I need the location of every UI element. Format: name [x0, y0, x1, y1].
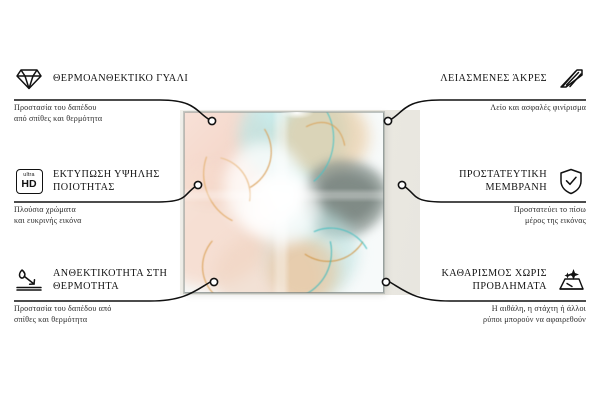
- feature-easy-cleaning: ΚΑΘΑΡΙΣΜΟΣ ΧΩΡΙΣ ΠΡΟΒΛΗΜΑΤΑ Η αιθάλη, η …: [408, 265, 586, 326]
- connector-dot: [382, 278, 389, 285]
- feature-description: Πλούσια χρώματακαι ευκρινής εικόνα: [14, 204, 192, 227]
- shield-check-icon: [556, 166, 586, 196]
- diamond-icon: [14, 64, 44, 94]
- feature-description: Λείο και ασφαλές φινίρισμα: [408, 102, 586, 113]
- feature-description: Προστασία του δαπέδου απόσπίθες και θερμ…: [14, 303, 192, 326]
- feature-heat-durability: ΑΝΘΕΚΤΙΚΟΤΗΤΑ ΣΤΗ ΘΕΡΜΟΤΗΤΑ Προστασία το…: [14, 265, 192, 326]
- infographic-canvas: ΘΕΡΜΟΑΝΘΕΚΤΙΚΟ ΓΥΑΛΙ Προστασία του δαπέδ…: [0, 0, 600, 400]
- feature-title: ΘΕΡΜΟΑΝΘΕΚΤΙΚΟ ΓΥΑΛΙ: [53, 72, 188, 85]
- connector-dot: [384, 117, 391, 124]
- feature-protective-film: ΠΡΟΣΤΑΤΕΥΤΙΚΗ ΜΕΜΒΡΑΝΗ Προστατεύει το πί…: [408, 166, 586, 227]
- feature-heat-resistant-glass: ΘΕΡΜΟΑΝΘΕΚΤΙΚΟ ΓΥΑΛΙ Προστασία του δαπέδ…: [14, 64, 192, 125]
- connector-dot: [210, 278, 217, 285]
- feature-title: ΚΑΘΑΡΙΣΜΟΣ ΧΩΡΙΣ ΠΡΟΒΛΗΜΑΤΑ: [408, 267, 547, 294]
- feature-title: ΑΝΘΕΚΤΙΚΟΤΗΤΑ ΣΤΗ ΘΕΡΜΟΤΗΤΑ: [53, 267, 192, 294]
- feature-description: Προστασία του δαπέδουαπό σπίθες και θερμ…: [14, 102, 192, 125]
- ultra-hd-badge-icon: ultra HD: [14, 166, 44, 196]
- feature-high-quality-print: ultra HD ΕΚΤΥΠΩΣΗ ΥΨΗΛΗΣ ΠΟΙΟΤΗΤΑΣ Πλούσ…: [14, 166, 192, 227]
- feature-description: Η αιθάλη, η στάχτη ή άλλοιρύποι μπορούν …: [408, 303, 586, 326]
- feature-title: ΕΚΤΥΠΩΣΗ ΥΨΗΛΗΣ ΠΟΙΟΤΗΤΑΣ: [53, 168, 192, 195]
- hd-label: HD: [21, 179, 36, 190]
- connector-dot: [194, 181, 201, 188]
- feature-title: ΛΕΙΑΣΜΕΝΕΣ ΆΚΡΕΣ: [440, 72, 547, 85]
- feature-title: ΠΡΟΣΤΑΤΕΥΤΙΚΗ ΜΕΜΒΡΑΝΗ: [408, 168, 547, 195]
- feature-description: Προστατεύει το πίσωμέρος της εικόνας: [408, 204, 586, 227]
- connector-dot: [398, 181, 405, 188]
- flame-heat-resistance-icon: [14, 265, 44, 295]
- feature-polished-edges: ΛΕΙΑΣΜΕΝΕΣ ΆΚΡΕΣ Λείο και ασφαλές φινίρι…: [408, 64, 586, 113]
- sparkle-cleaning-icon: [556, 265, 586, 295]
- polished-edges-icon: [556, 64, 586, 94]
- connector-dot: [208, 117, 215, 124]
